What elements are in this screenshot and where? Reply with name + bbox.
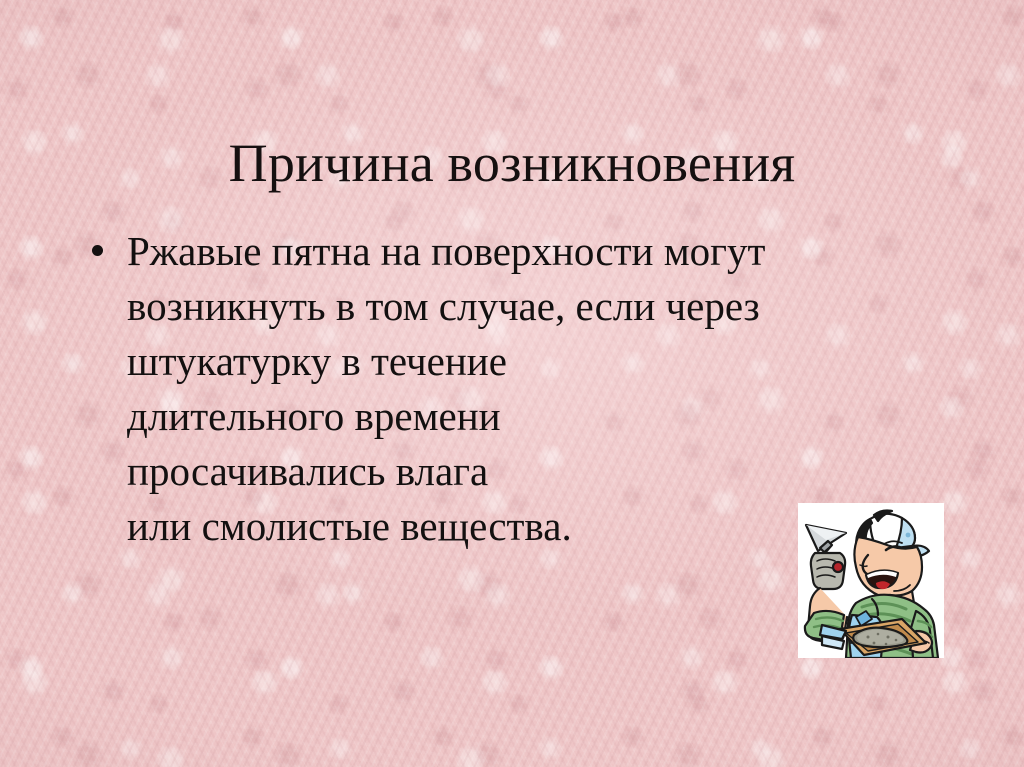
bullet-list-item: Ржавые пятна на поверхности могут возник… xyxy=(86,224,876,554)
bullet-line-5: просачивались влага xyxy=(127,444,876,499)
slide-body: Ржавые пятна на поверхности могут возник… xyxy=(86,224,876,554)
bullet-line-6: или смолистые вещества. xyxy=(127,499,876,554)
slide-canvas: Причина возникновения Ржавые пятна на по… xyxy=(0,0,1024,767)
bullet-line-1: Ржавые пятна на поверхности могут xyxy=(127,224,876,279)
slide-title: Причина возникновения xyxy=(0,132,1024,194)
plasterer-clipart-image xyxy=(798,503,944,658)
bullet-line-3: штукатурку в течение xyxy=(127,334,876,389)
bullet-line-2: возникнуть в том случае, если через xyxy=(127,279,876,334)
bullet-dot-icon xyxy=(92,245,103,256)
plasterer-illustration xyxy=(798,503,944,658)
bullet-line-4: длительного времени xyxy=(127,389,876,444)
